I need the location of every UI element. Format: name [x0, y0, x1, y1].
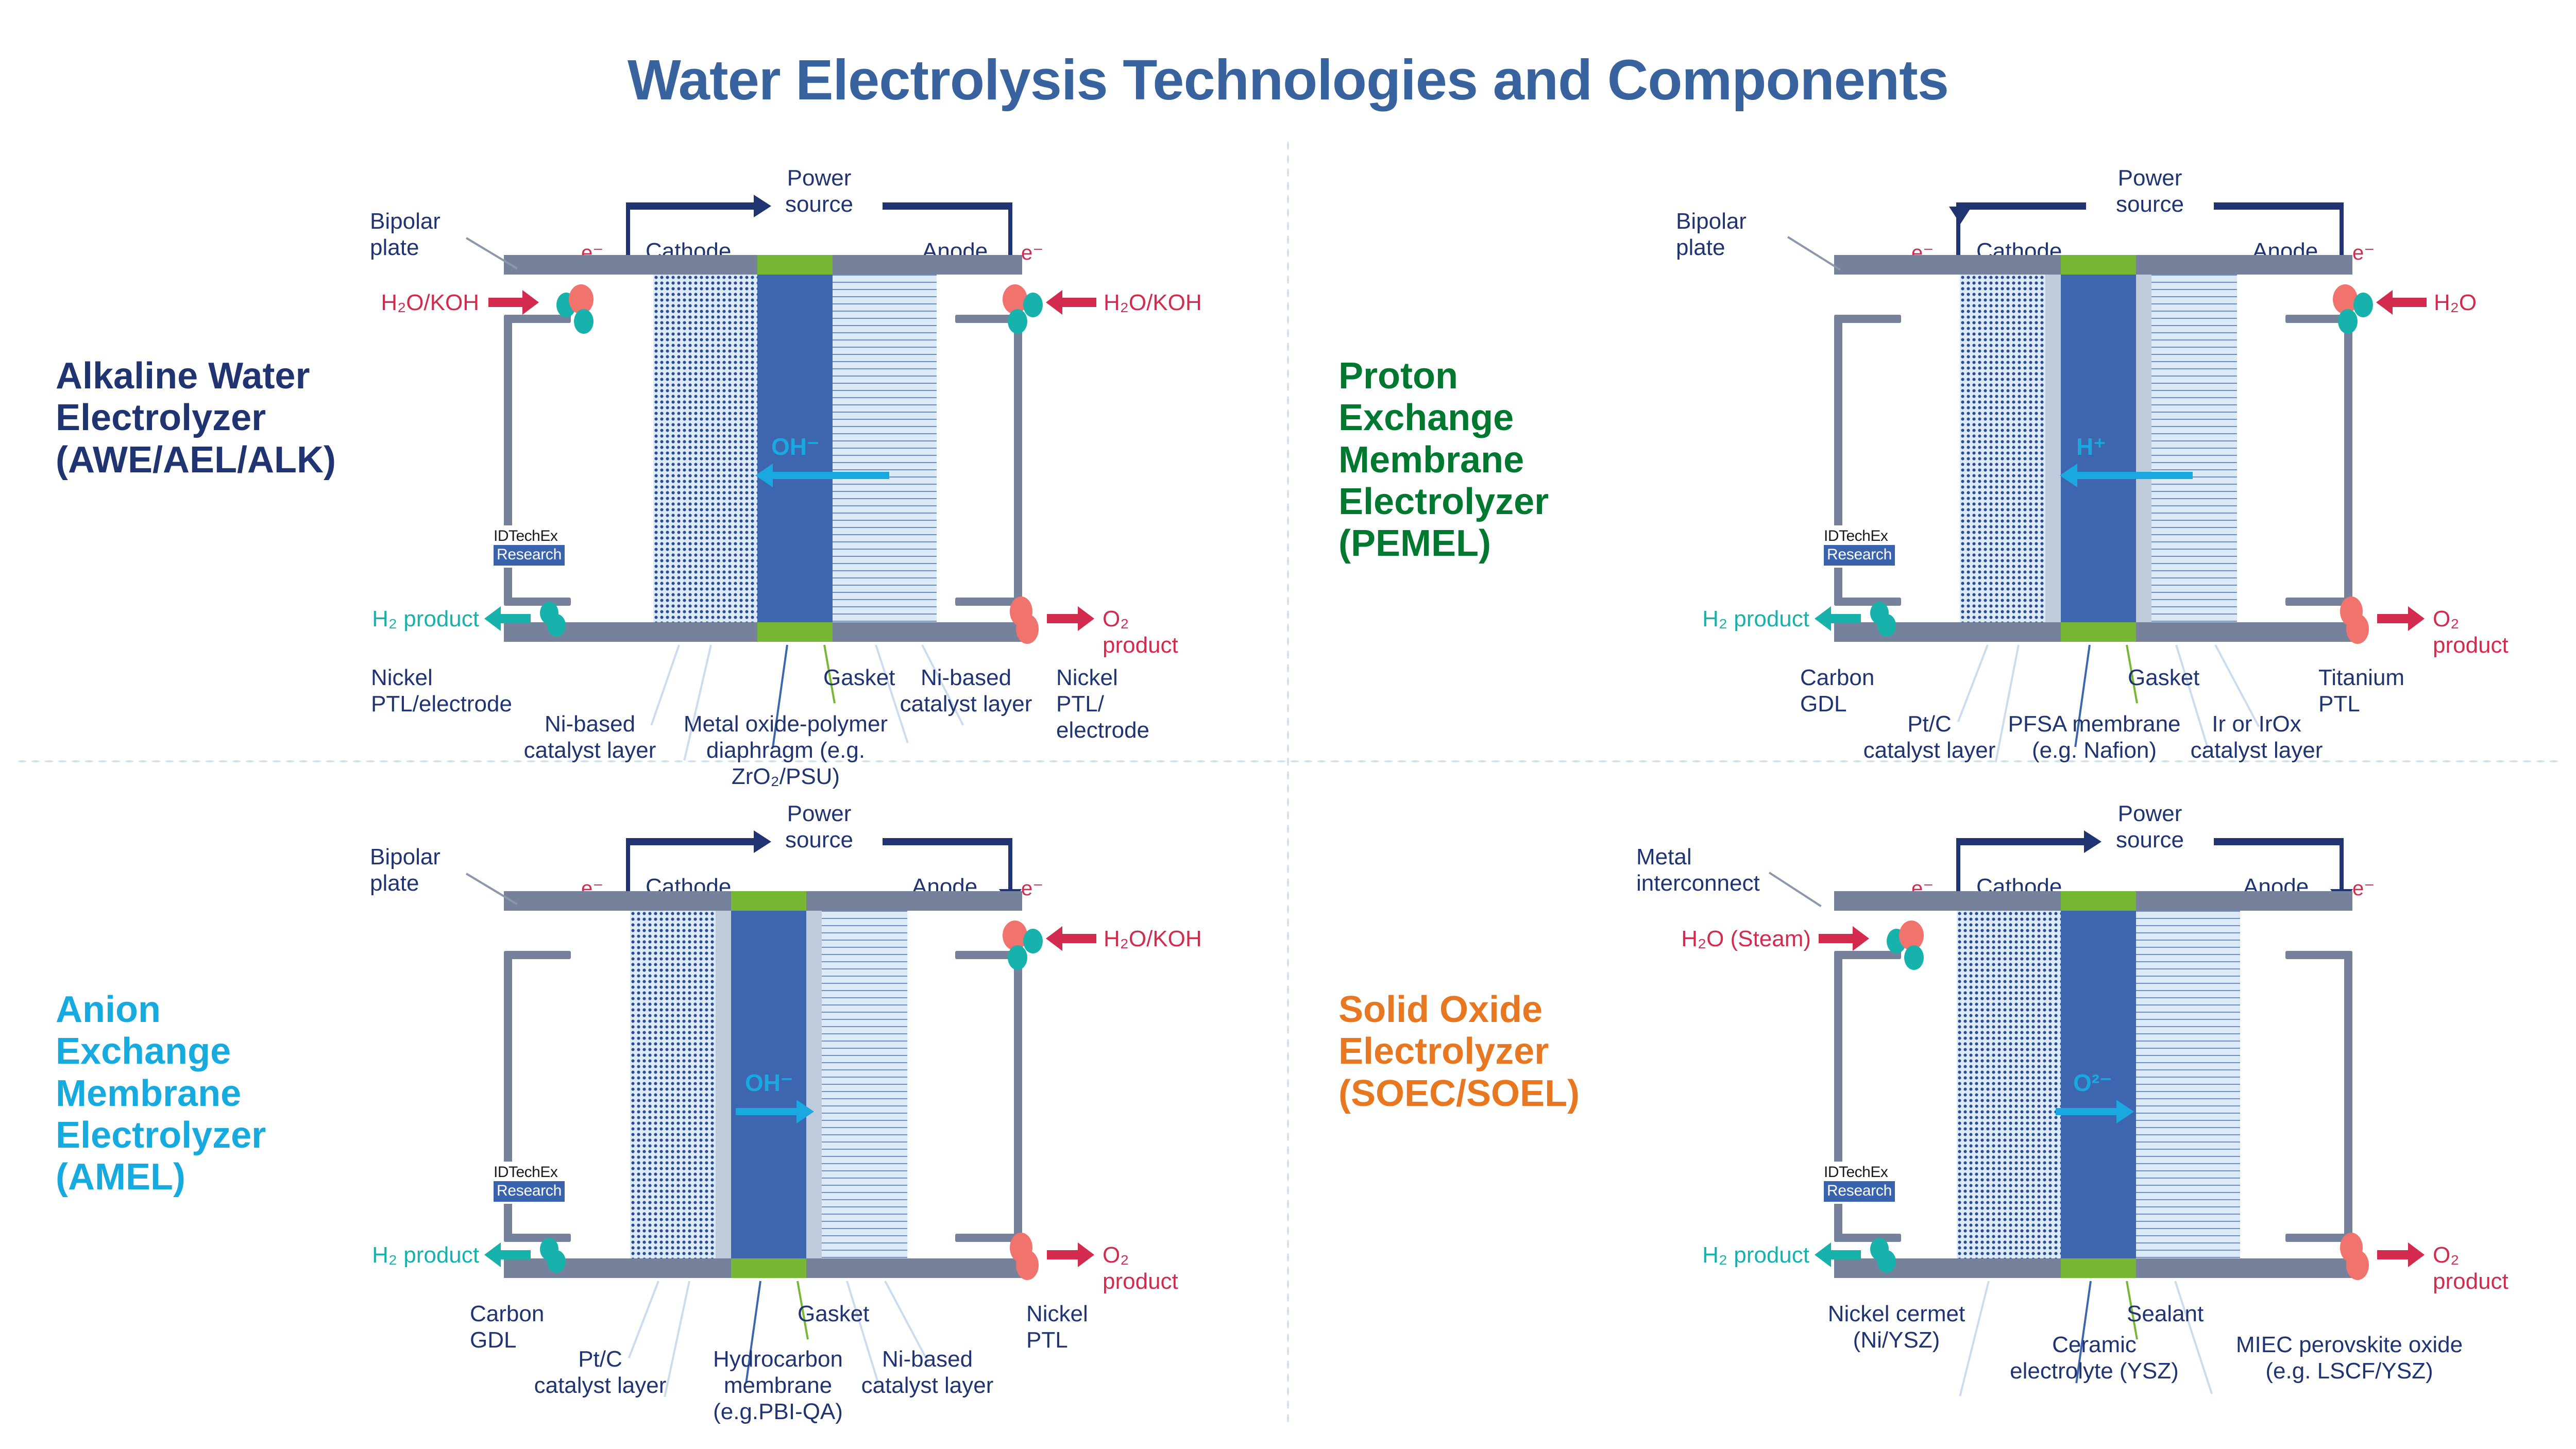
ion-label: OH⁻ — [745, 1069, 793, 1097]
panel-pemel-title: Proton Exchange Membrane Electrolyzer (P… — [1338, 355, 1549, 565]
logo-subbrand: Research — [1824, 1181, 1895, 1202]
component-label-cathode-catalyst: Pt/C catalyst layer — [1855, 711, 2004, 763]
component-label-anode-catalyst: Ni-based catalyst layer — [850, 1346, 1005, 1399]
cathode-ptl-layer — [653, 275, 757, 622]
h2-product-label: H₂ product — [1670, 606, 1809, 632]
logo-subbrand: Research — [494, 1181, 565, 1202]
cathode-outlet-pipe — [1834, 1234, 1901, 1242]
cathode-catalyst-layer — [716, 911, 731, 1258]
o2-arrowhead — [2408, 1242, 2425, 1267]
power-source-label: Power source — [744, 800, 894, 853]
circuit-left-riser — [626, 842, 630, 893]
gasket-bottom — [731, 1258, 806, 1278]
electron-right-label: e⁻ — [2352, 877, 2375, 900]
circuit-right-riser — [1008, 206, 1012, 258]
circuit-top-left — [626, 838, 755, 845]
anode-feed-arrow — [1061, 298, 1096, 307]
o2-product-label: O₂ product — [1103, 606, 1178, 658]
h2-arrow — [1829, 614, 1861, 623]
o2-arrow — [2377, 1250, 2409, 1259]
circuit-left-riser — [1956, 842, 1960, 893]
hydrogen-atom — [547, 1250, 566, 1273]
cathode-catalyst-layer — [2045, 275, 2061, 622]
bipolar-plate-label: Bipolar plate — [370, 844, 440, 896]
ion-arrow-head — [2116, 1100, 2134, 1123]
bipolar-plate-leader — [466, 873, 518, 905]
anode-feed-arrowhead — [2376, 290, 2393, 315]
o2-arrow — [2377, 614, 2409, 623]
anode-feed-arrow — [1061, 934, 1096, 943]
power-source-label: Power source — [2075, 800, 2225, 853]
bipolar-plate-leader — [1787, 236, 1841, 270]
circuit-top-right — [2214, 838, 2344, 845]
gasket-top — [2061, 255, 2136, 275]
circuit-left-riser — [626, 206, 630, 258]
vertical-divider — [1286, 139, 1290, 1427]
anode-catalyst-layer — [806, 911, 822, 1258]
ion-arrow-head — [796, 1100, 814, 1123]
logo-wordmark: IDTechEx — [1824, 527, 1895, 545]
anode-ptl-layer — [822, 911, 907, 1258]
bipolar-plate-label: Bipolar plate — [1676, 208, 1747, 261]
gasket-bottom — [757, 622, 833, 642]
logo-subbrand: Research — [1824, 545, 1895, 566]
anode-pipe-riser — [1014, 315, 1022, 606]
component-label-cathode-catalyst: Pt/C catalyst layer — [526, 1346, 675, 1399]
circuit-arrow-down — [1949, 207, 1972, 224]
o2-product-label: O₂ product — [2433, 606, 2509, 658]
ion-label: O²⁻ — [2073, 1069, 2112, 1097]
h2-arrow — [1829, 1250, 1861, 1259]
ion-arrow-bar — [2056, 1108, 2117, 1115]
cathode-feed-arrowhead — [522, 290, 539, 315]
circuit-right-riser — [1008, 842, 1012, 892]
sealant-bottom — [2061, 1258, 2136, 1278]
oxygen-atom — [2346, 614, 2369, 644]
component-label-sealant: Sealant — [2127, 1301, 2204, 1327]
panel-amel-title: Anion Exchange Membrane Electrolyzer (AM… — [56, 989, 266, 1199]
electron-right-label: e⁻ — [1021, 241, 1043, 265]
bipolar-plate-label: Bipolar plate — [370, 208, 440, 261]
page-title: Water Electrolysis Technologies and Comp… — [0, 47, 2576, 113]
component-label-cathode-ptl: Carbon GDL — [470, 1301, 544, 1353]
hydrogen-atom — [1023, 293, 1043, 317]
idtechex-logo: IDTechEx Research — [490, 1162, 568, 1204]
cathode-ptl-layer — [630, 911, 716, 1258]
o2-arrow — [1047, 614, 1079, 623]
ion-arrow-head — [755, 464, 773, 487]
component-label-membrane: Metal oxide-polymer diaphragm (e.g. ZrO₂… — [659, 711, 912, 790]
power-source-label: Power source — [744, 165, 894, 217]
component-label-electrolyte: Ceramic electrolyte (YSZ) — [1994, 1332, 2195, 1384]
cathode-feed-arrow — [1819, 934, 1854, 943]
circuit-top-left — [1956, 202, 2086, 210]
component-label-gasket: Gasket — [798, 1301, 869, 1327]
component-label-membrane: PFSA membrane (e.g. Nafion) — [1994, 711, 2195, 763]
hydrogen-atom — [2338, 309, 2358, 334]
logo-subbrand: Research — [494, 545, 565, 566]
circuit-top-left — [1956, 838, 2085, 845]
hydrogen-atom — [1877, 614, 1896, 637]
anode-feed-arrowhead — [1046, 290, 1062, 315]
anode-ptl-layer — [2151, 275, 2237, 622]
component-label-anode-ptl: Nickel PTL/ electrode — [1056, 664, 1149, 743]
ion-arrow-head — [2060, 464, 2077, 487]
oxygen-atom — [1016, 614, 1039, 644]
cathode-outlet-pipe — [504, 1234, 571, 1242]
gasket-top — [757, 255, 833, 275]
h2-arrow — [499, 1250, 531, 1259]
o2-arrow — [1047, 1250, 1079, 1259]
bipolar-plate-leader — [466, 237, 518, 269]
idtechex-logo: IDTechEx Research — [490, 525, 568, 568]
component-label-cathode-ptl: Nickel PTL/electrode — [371, 664, 512, 717]
cathode-ptl-layer — [1957, 911, 2061, 1258]
ion-label: H⁺ — [2076, 433, 2106, 461]
cathode-inlet-pipe — [1834, 951, 1901, 959]
component-label-cathode-ptl: Nickel cermet (Ni/YSZ) — [1811, 1301, 1981, 1353]
anode-feed-label: H₂O/KOH — [1104, 289, 1202, 316]
anode-catalyst-layer — [2136, 275, 2151, 622]
cathode-inlet-pipe — [1834, 315, 1901, 323]
component-label-cathode-ptl: Carbon GDL — [1800, 664, 1874, 717]
cathode-ptl-layer — [1960, 275, 2045, 622]
cathode-outlet-pipe — [504, 598, 571, 606]
hydrogen-atom — [2353, 293, 2373, 317]
o2-arrowhead — [2408, 606, 2425, 631]
h2-product-label: H₂ product — [340, 1242, 479, 1268]
o2-product-label: O₂ product — [1103, 1242, 1178, 1294]
hydrogen-atom — [574, 309, 594, 334]
circuit-top-right — [883, 838, 1012, 845]
component-label-anode-ptl: MIEC perovskite oxide (e.g. LSCF/YSZ) — [2226, 1332, 2473, 1384]
anode-inlet-pipe — [2285, 951, 2352, 959]
hydrogen-atom — [1877, 1250, 1896, 1273]
cathode-feed-label: H₂O (Steam) — [1628, 926, 1811, 952]
anode-ptl-layer — [833, 275, 937, 622]
component-label-gasket: Gasket — [2128, 664, 2199, 691]
ion-arrow-bar — [736, 1108, 798, 1115]
component-label-anode-catalyst: Ir or IrOx catalyst layer — [2179, 711, 2334, 763]
oxygen-atom — [2346, 1250, 2369, 1280]
o2-product-label: O₂ product — [2433, 1242, 2509, 1294]
component-label-gasket: Gasket — [823, 664, 895, 691]
idtechex-logo: IDTechEx Research — [1821, 525, 1898, 568]
cathode-outlet-pipe — [1834, 598, 1901, 606]
ion-arrow-bar — [2077, 472, 2193, 479]
hydrogen-atom — [1023, 929, 1043, 953]
circuit-right-riser — [2340, 842, 2344, 892]
power-source-label: Power source — [2075, 165, 2225, 217]
electron-right-label: e⁻ — [1021, 877, 1043, 900]
ion-label: OH⁻ — [771, 433, 819, 461]
sealant-top — [2061, 891, 2136, 911]
h2-arrow — [499, 614, 531, 623]
logo-wordmark: IDTechEx — [494, 527, 565, 545]
anode-pipe-riser — [2344, 951, 2352, 1242]
electron-right-label: e⁻ — [2352, 241, 2375, 265]
component-label-cathode-catalyst: Ni-based catalyst layer — [515, 711, 665, 763]
logo-wordmark: IDTechEx — [1824, 1164, 1895, 1181]
oxygen-atom — [1016, 1250, 1039, 1280]
anode-feed-arrowhead — [1046, 926, 1062, 951]
anode-feed-label: H₂O/KOH — [1104, 926, 1202, 952]
ion-arrow-bar — [773, 472, 889, 479]
gasket-bottom — [2061, 622, 2136, 642]
cathode-inlet-pipe — [504, 951, 571, 959]
anode-feed-arrow — [2392, 298, 2427, 307]
anode-pipe-riser — [2344, 315, 2352, 606]
circuit-right-riser — [2340, 206, 2344, 258]
o2-arrowhead — [1078, 606, 1094, 631]
component-label-anode-ptl: Titanium PTL — [2318, 664, 2404, 717]
hydrogen-atom — [547, 614, 566, 637]
idtechex-logo: IDTechEx Research — [1821, 1162, 1898, 1204]
metal-interconnect-leader — [1769, 872, 1822, 907]
component-label-anode-ptl: Nickel PTL — [1026, 1301, 1088, 1353]
panel-awe-title: Alkaline Water Electrolyzer (AWE/AEL/ALK… — [56, 355, 336, 481]
hydrogen-atom — [1008, 945, 1027, 970]
circuit-top-left — [626, 202, 755, 210]
o2-arrowhead — [1078, 1242, 1094, 1267]
cathode-feed-label: H₂O/KOH — [350, 289, 479, 316]
hydrogen-atom — [1904, 945, 1924, 970]
circuit-top-right — [2214, 202, 2344, 210]
h2-product-label: H₂ product — [340, 606, 479, 632]
h2-product-label: H₂ product — [1670, 1242, 1809, 1268]
cathode-inlet-pipe — [504, 315, 571, 323]
anode-feed-label: H₂O — [2434, 289, 2477, 316]
circuit-top-right — [883, 202, 1012, 210]
anode-ptl-layer — [2136, 911, 2240, 1258]
panel-soec-title: Solid Oxide Electrolyzer (SOEC/SOEL) — [1338, 989, 1580, 1115]
component-label-anode-catalyst: Ni-based catalyst layer — [891, 664, 1041, 717]
hydrogen-atom — [1008, 309, 1027, 334]
cathode-feed-arrowhead — [1853, 926, 1869, 951]
logo-wordmark: IDTechEx — [494, 1164, 565, 1181]
gasket-top — [731, 891, 806, 911]
cathode-feed-arrow — [488, 298, 523, 307]
anode-pipe-riser — [1014, 951, 1022, 1242]
metal-interconnect-label: Metal interconnect — [1636, 844, 1760, 896]
